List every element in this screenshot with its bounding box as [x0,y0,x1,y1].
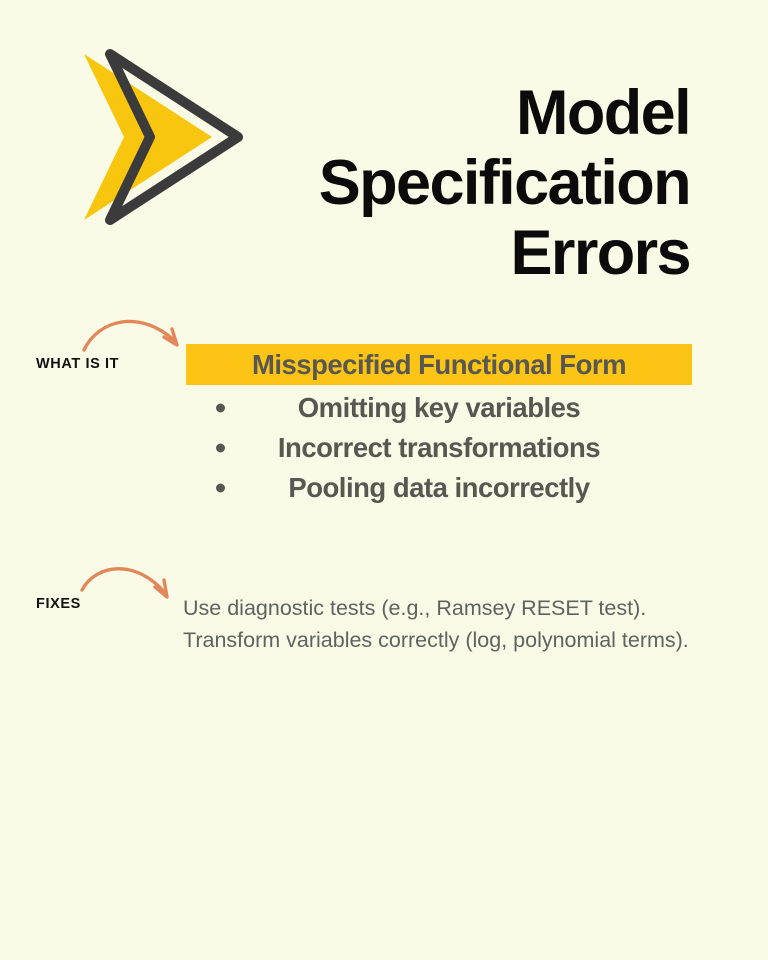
list-item: Incorrect transformations [186,428,692,468]
list-item: Pooling data incorrectly [186,468,692,508]
fixes-paragraph-1: Use diagnostic tests (e.g., Ramsey RESET… [183,592,692,624]
misspecified-heading: Misspecified Functional Form [252,351,626,379]
page-title: Model Specification Errors [130,78,690,288]
bullet-label: Pooling data incorrectly [288,474,589,502]
bullet-dot-icon [216,484,225,493]
status-badge: Misspecified Functional Form [186,344,692,385]
infographic-page: Model Specification Errors WHAT IS IT Mi… [0,0,768,960]
fixes-body: Use diagnostic tests (e.g., Ramsey RESET… [183,592,692,656]
bullet-list: Omitting key variables Incorrect transfo… [186,388,692,508]
bullet-label: Omitting key variables [298,394,580,422]
bullet-dot-icon [216,444,225,453]
fixes-paragraph-2: Transform variables correctly (log, poly… [183,624,692,656]
title-line-2: Specification [130,148,690,218]
bullet-dot-icon [216,404,225,413]
header: Model Specification Errors [0,0,768,300]
title-line-3: Errors [130,218,690,288]
list-item: Omitting key variables [186,388,692,428]
curved-arrow-icon [80,556,190,618]
curved-arrow-icon [80,304,200,366]
bullet-label: Incorrect transformations [278,434,600,462]
fixes-label: FIXES [36,596,81,612]
title-line-1: Model [130,78,690,148]
